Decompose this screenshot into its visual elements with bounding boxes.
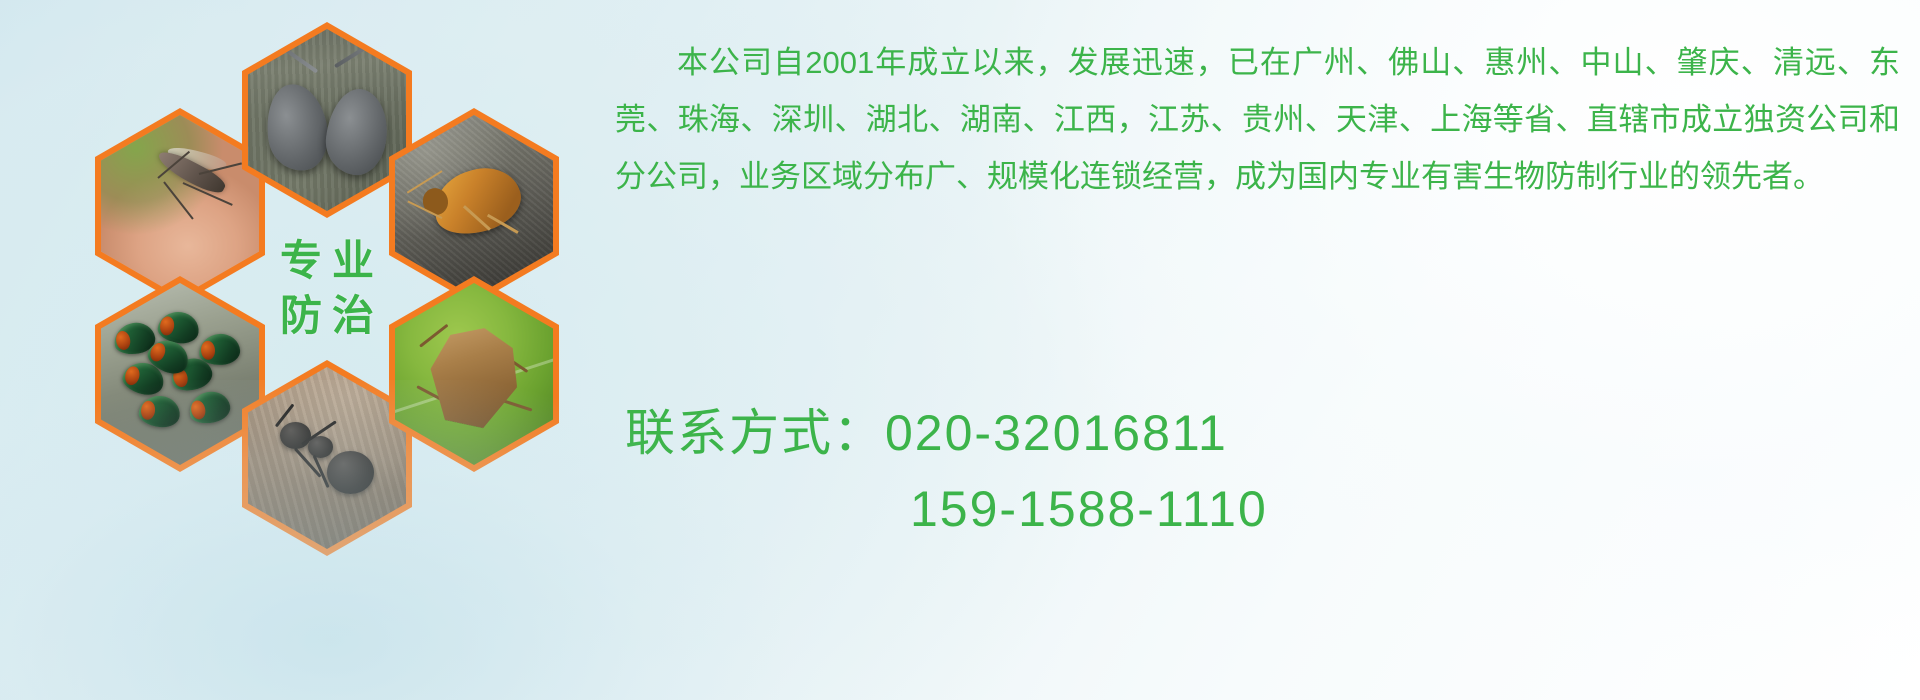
stinkbug-body [421, 319, 528, 434]
fly-eye [123, 364, 141, 386]
stinkbug-image [395, 283, 553, 465]
mosquito-photo-inner [101, 115, 259, 297]
fly-eye [189, 399, 207, 421]
flies-image [101, 283, 259, 465]
mosquito-photo [95, 108, 265, 304]
service-label-hexagon: 专业 防治 [242, 190, 412, 386]
flies-photo [95, 276, 265, 472]
company-intro-paragraph: 本公司自2001年成立以来，发展迅速，已在广州、佛山、惠州、中山、肇庆、清远、东… [615, 34, 1900, 205]
intro-text-block: 本公司自2001年成立以来，发展迅速，已在广州、佛山、惠州、中山、肇庆、清远、东… [615, 34, 1900, 205]
fly-eye [158, 315, 174, 336]
fly-eye [114, 330, 131, 351]
stinkbug-photo-inner [395, 283, 553, 465]
cockroach-image [395, 115, 553, 297]
company-intro-banner: 专业 防治 本公司自2001年成立以来，发展迅速，已在广州、佛山、惠州、中山、肇… [0, 0, 1920, 700]
rats-photo-inner [248, 29, 406, 211]
cockroach-photo [389, 108, 559, 304]
cockroach-photo-inner [395, 115, 553, 297]
ant-photo [242, 360, 412, 556]
mosquito-image [101, 115, 259, 297]
contact-phone-secondary: 159-1588-1110 [625, 471, 1268, 547]
contact-phone-primary: 020-32016811 [885, 405, 1228, 461]
ant-ground [248, 367, 406, 549]
fly-eye [140, 399, 156, 420]
stinkbug-photo [389, 276, 559, 472]
hexagon-photo-cluster: 专业 防治 [95, 0, 595, 580]
ant-image [248, 367, 406, 549]
ant-head [280, 422, 312, 449]
rats-image [248, 29, 406, 211]
service-label-line2: 防治 [270, 293, 384, 338]
flies-photo-inner [101, 283, 259, 465]
rats-photo [242, 22, 412, 218]
fly [137, 394, 181, 429]
fly [187, 388, 234, 427]
ant-photo-inner [248, 367, 406, 549]
contact-label: 联系方式： [625, 405, 885, 461]
contact-block: 联系方式：020-32016811 159-1588-1110 [625, 395, 1268, 547]
fly-eye [200, 340, 215, 360]
service-label-line1: 专业 [270, 238, 384, 283]
stinkbug-leg [419, 324, 448, 348]
